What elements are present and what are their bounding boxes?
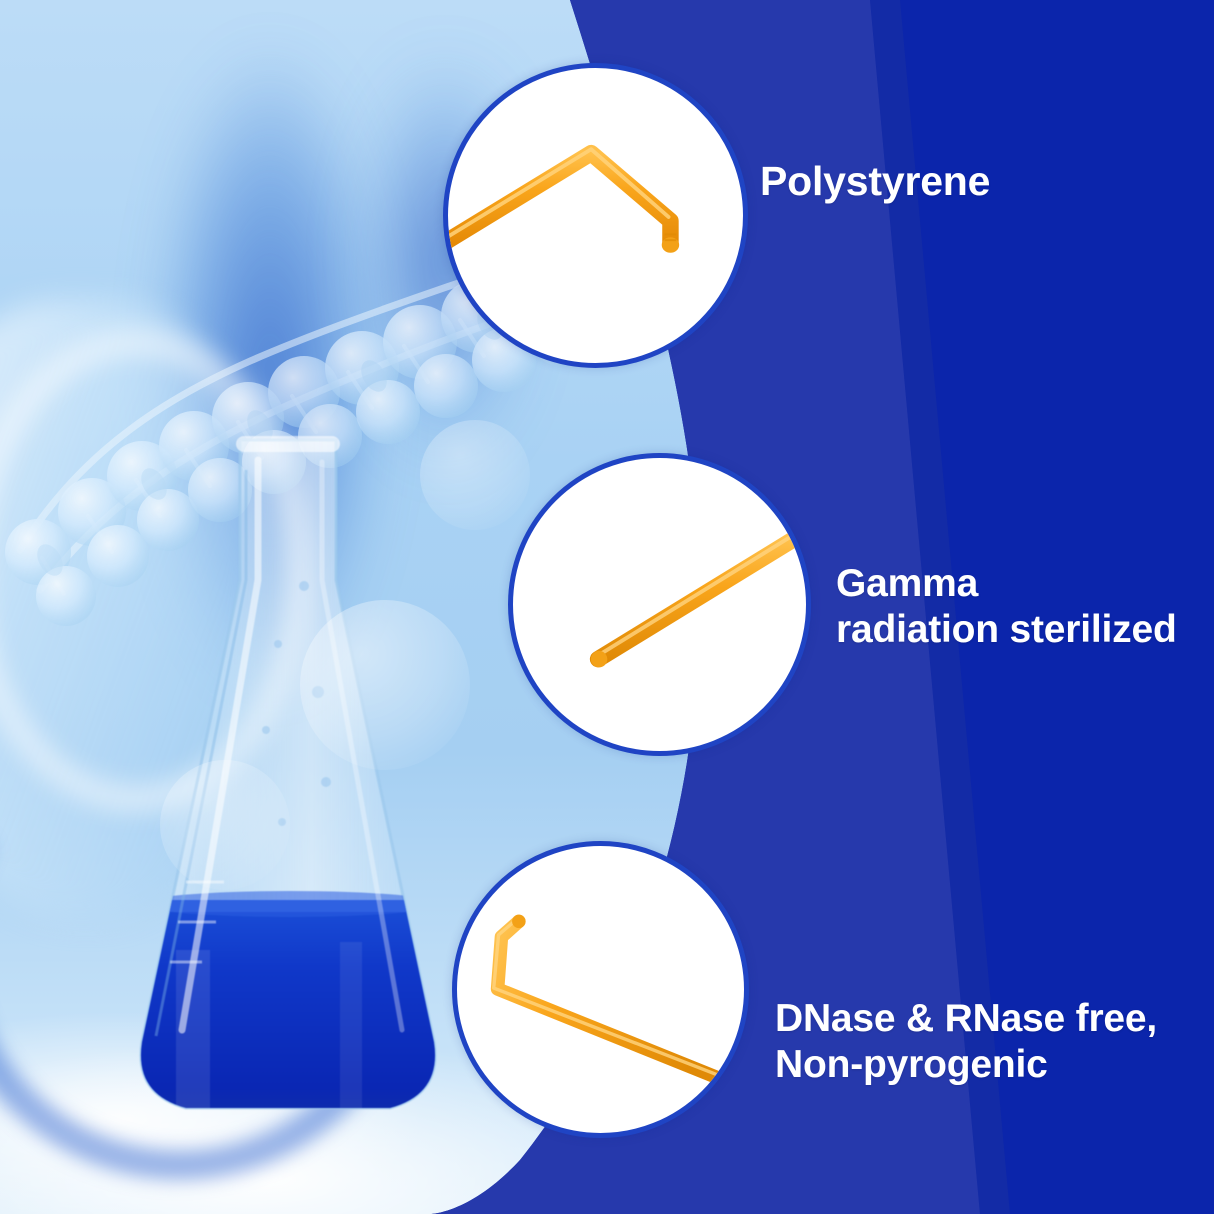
feature-label-gamma-sterilized: Gamma radiation sterilized [836, 561, 1177, 653]
product-feature-banner: Polystyrene Gamma radiation sterilized D… [0, 0, 1214, 1214]
feature-icon-circle-dnase [452, 841, 749, 1138]
straight-spreader-rod-icon [591, 531, 803, 667]
feature-icon-circle-polystyrene [443, 63, 748, 368]
hockey-stick-spreader-icon [494, 915, 738, 1086]
bent-cell-spreader-icon [448, 149, 679, 252]
feature-label-dnase-rnase-free: DNase & RNase free, Non-pyrogenic [775, 996, 1157, 1088]
feature-label-polystyrene: Polystyrene [760, 157, 990, 205]
feature-icon-circle-gamma [508, 453, 811, 756]
